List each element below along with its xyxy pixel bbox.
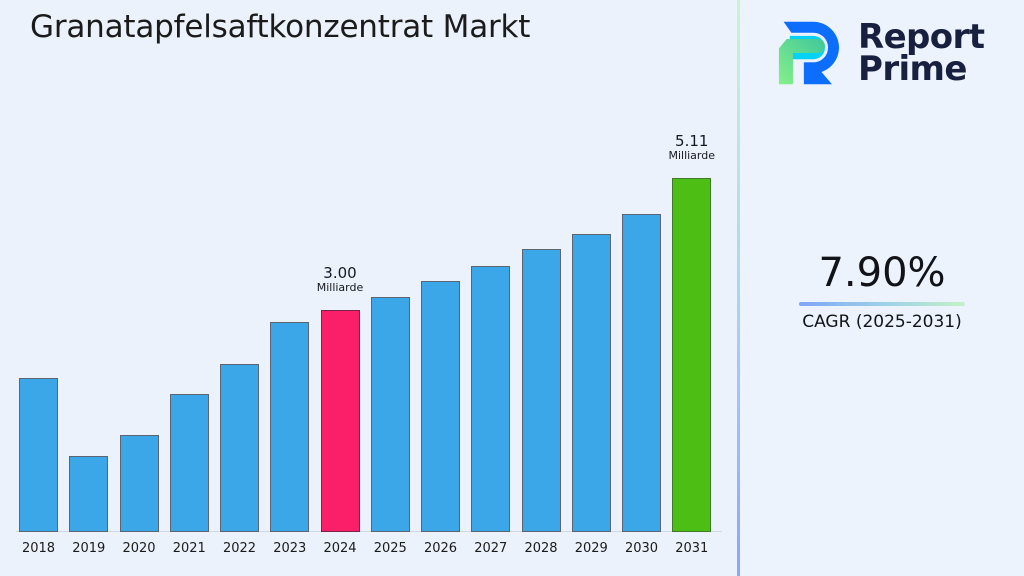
bar-2027[interactable] [471,266,510,532]
brand-logo: Report Prime [768,12,1008,94]
bar-value-unit-2031: Milliarde [632,150,752,162]
bar-2022[interactable] [220,364,259,532]
bar-2030[interactable] [622,214,661,532]
bar-chart-plot-area: 2018201920202021202220233.00Milliarde202… [0,0,738,576]
bar-2029[interactable] [572,234,611,532]
bar-2021[interactable] [170,394,209,532]
bar-value-label-2024: 3.00Milliarde [280,265,400,294]
bar-2026[interactable] [421,281,460,532]
x-axis-label-2031: 2031 [662,541,722,556]
cagr-value: 7.90% [740,252,1024,294]
bar-2024[interactable] [321,310,360,532]
bar-value-number-2031: 5.11 [632,133,752,150]
bar-2023[interactable] [270,322,309,532]
bar-2019[interactable] [69,456,108,532]
bar-value-unit-2024: Milliarde [280,282,400,294]
bar-2025[interactable] [371,297,410,532]
cagr-divider-rule [799,302,965,306]
chart-panel: Granatapfelsaftkonzentrat Markt 20182019… [0,0,738,576]
bar-value-label-2031: 5.11Milliarde [632,133,752,162]
report-prime-logo-mark [768,17,846,89]
bar-2031[interactable] [672,178,711,532]
brand-logo-text: Report Prime [858,21,984,86]
bar-value-number-2024: 3.00 [280,265,400,282]
bar-2018[interactable] [19,378,58,532]
cagr-block: 7.90% CAGR (2025-2031) [740,252,1024,332]
screenshot-root: Granatapfelsaftkonzentrat Markt 20182019… [0,0,1024,576]
cagr-label: CAGR (2025-2031) [740,312,1024,332]
bar-2028[interactable] [522,249,561,532]
logo-line-2: Prime [858,53,984,85]
bar-2020[interactable] [120,435,159,532]
side-panel: Report Prime 7.90% CAGR (2025-2031) [740,0,1024,576]
